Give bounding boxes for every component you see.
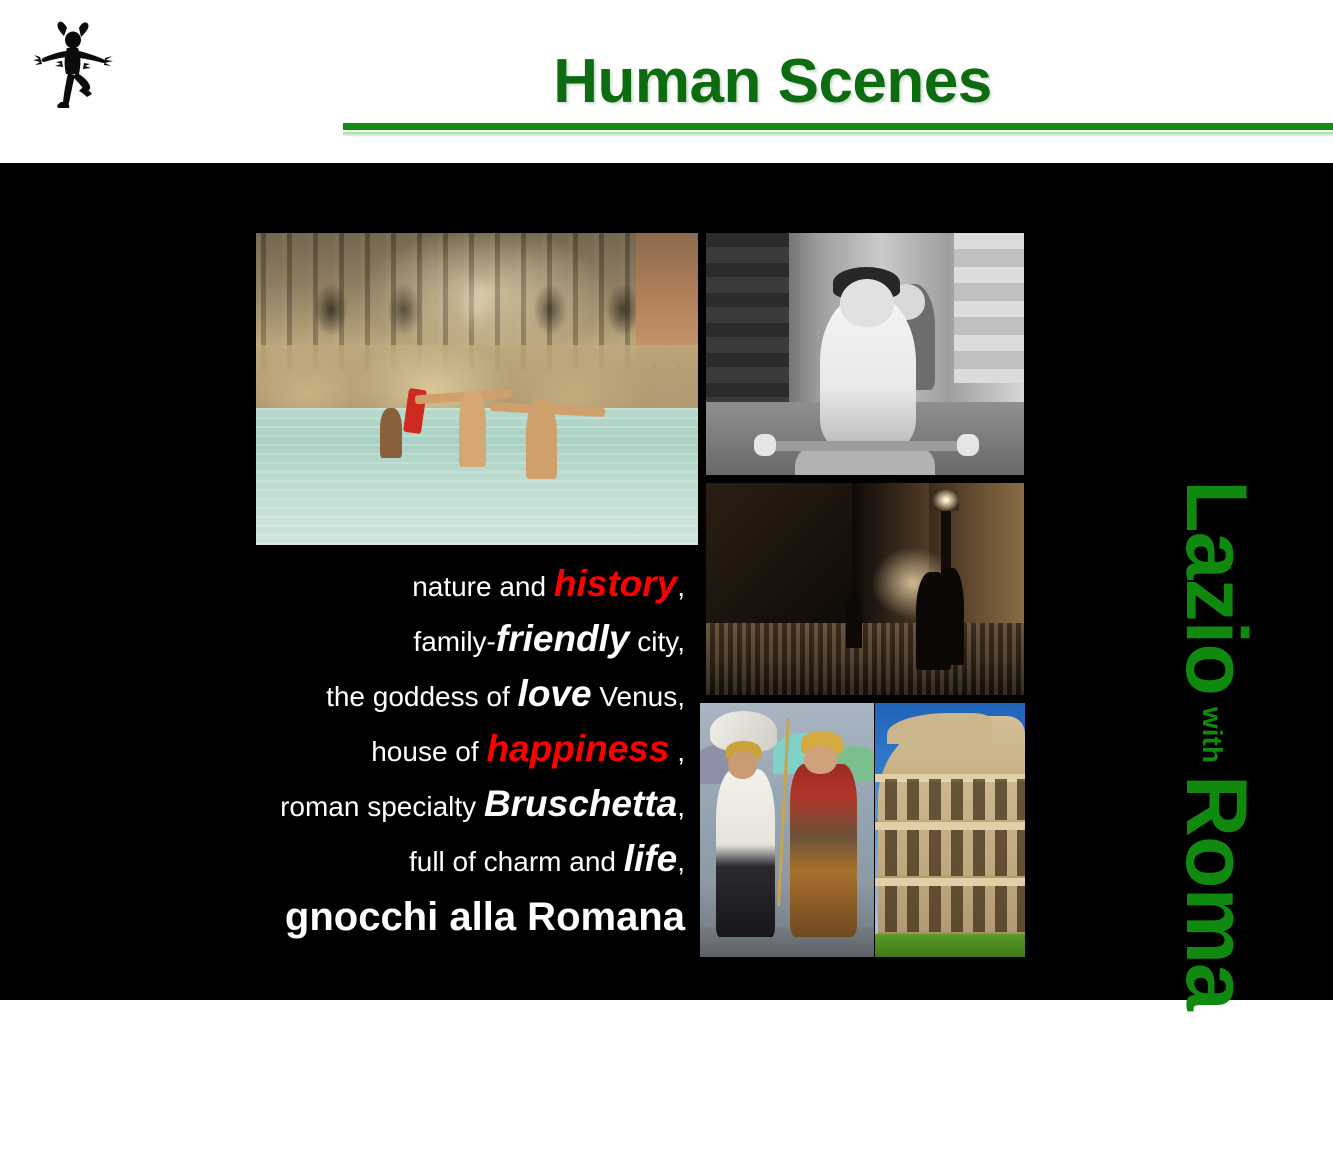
caption-line: nature and history, bbox=[210, 558, 685, 613]
caption-pre: house of bbox=[371, 736, 486, 767]
caption-line: roman specialty Bruschetta, bbox=[210, 778, 685, 833]
colosseum-photo bbox=[875, 703, 1025, 957]
page-title: Human Scenes bbox=[340, 46, 1205, 118]
caption-pre: full of charm and bbox=[409, 846, 624, 877]
title-underline-rule bbox=[343, 123, 1333, 139]
caption-post: , bbox=[669, 736, 685, 767]
caption-emphasis: life bbox=[624, 838, 677, 879]
vertical-label-connector: with bbox=[1197, 694, 1228, 774]
slide-body: nature and history, family-friendly city… bbox=[0, 163, 1333, 1000]
caption-emphasis: Bruschetta bbox=[484, 783, 677, 824]
caption-pre: the goddess of bbox=[326, 681, 517, 712]
caption-emphasis: history bbox=[554, 563, 677, 604]
caption-post: , bbox=[677, 571, 685, 602]
trevi-fountain-night-swimmers-photo bbox=[256, 233, 698, 545]
caption-post: Venus, bbox=[592, 681, 685, 712]
roman-holiday-vespa-bw-photo bbox=[706, 233, 1024, 475]
caption-post: , bbox=[677, 791, 685, 822]
caption-emphasis: love bbox=[518, 673, 592, 714]
jester-dancer-silhouette-icon bbox=[32, 18, 114, 110]
caption-pre: roman specialty bbox=[280, 791, 484, 822]
rule-primary bbox=[343, 123, 1333, 130]
caption-pre: nature and bbox=[412, 571, 554, 602]
caption-emphasis: happiness bbox=[486, 728, 669, 769]
presentation-slide: Human Scenes bbox=[0, 0, 1333, 1000]
caption-line: full of charm and life, bbox=[210, 833, 685, 888]
caption-line: family-friendly city, bbox=[210, 613, 685, 668]
night-street-couple-sepia-photo bbox=[706, 483, 1024, 695]
roman-costume-parade-photo bbox=[700, 703, 874, 957]
vertical-region-label: LaziowithRoma bbox=[1098, 326, 1333, 1163]
vertical-label-region: Lazio bbox=[1168, 480, 1264, 695]
vertical-label-city: Roma bbox=[1168, 774, 1264, 1009]
caption-post: , bbox=[677, 846, 685, 877]
caption-emphasis: friendly bbox=[496, 618, 630, 659]
caption-post: city, bbox=[630, 626, 685, 657]
caption-line: the goddess of love Venus, bbox=[210, 668, 685, 723]
slide-header: Human Scenes bbox=[0, 0, 1333, 163]
caption-pre: family- bbox=[413, 626, 495, 657]
caption-text-block: nature and history, family-friendly city… bbox=[210, 558, 685, 946]
caption-final-line: gnocchi alla Romana bbox=[210, 888, 685, 946]
caption-line: house of happiness , bbox=[210, 723, 685, 778]
rule-secondary bbox=[343, 132, 1333, 136]
